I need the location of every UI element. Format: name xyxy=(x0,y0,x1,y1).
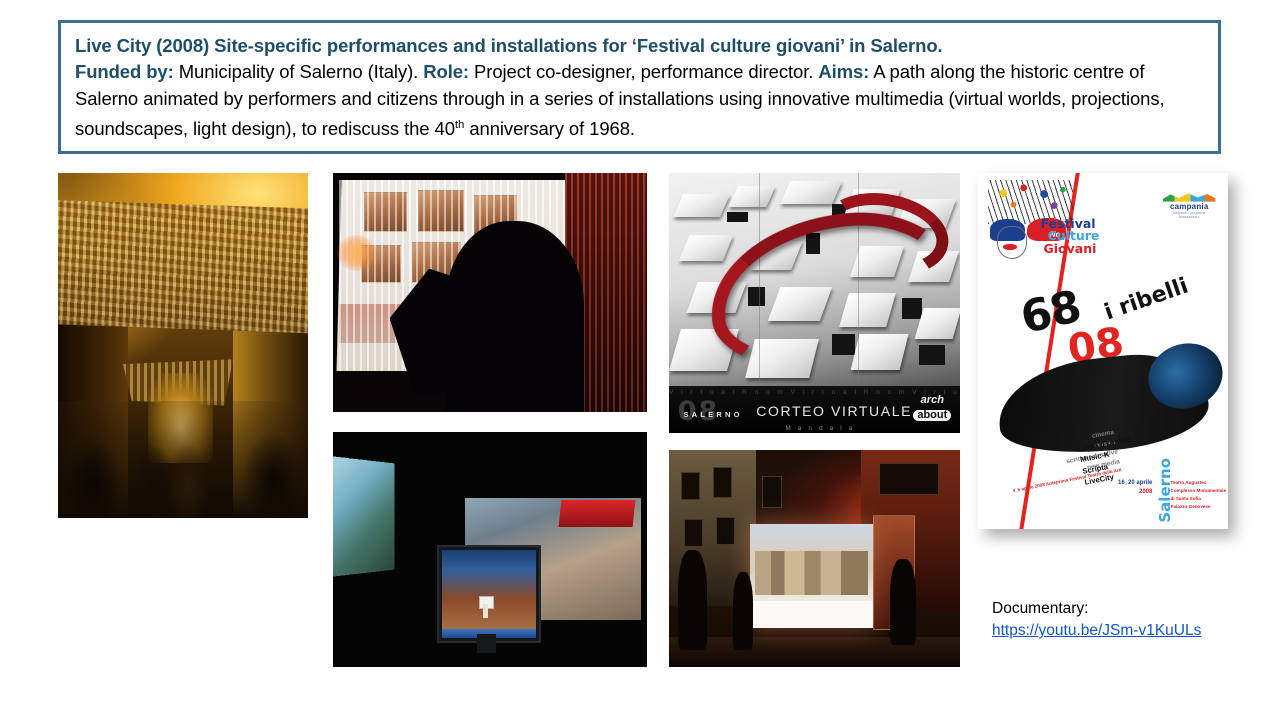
balcony-railing xyxy=(879,463,939,495)
aims-value-end: anniversary of 1968. xyxy=(464,118,635,139)
participant-head xyxy=(509,245,578,326)
role-value: Project co-designer, performance directo… xyxy=(474,61,813,82)
model-block xyxy=(673,194,730,217)
onlooker-silhouette xyxy=(678,550,707,650)
documentary-link[interactable]: https://youtu.be/JSm-v1KuULs xyxy=(992,620,1201,642)
aims-label: Aims: xyxy=(818,61,869,82)
caption-city: SALERNO xyxy=(684,410,743,419)
archabout-logo-line2: about xyxy=(913,410,951,421)
model-block xyxy=(728,186,775,207)
monitor-stand xyxy=(477,634,496,653)
building-window xyxy=(762,476,781,508)
alley-fabric-canopy xyxy=(58,194,308,346)
archabout-logo: arch about xyxy=(913,395,951,422)
campania-wave-icon xyxy=(1163,193,1216,202)
model-void xyxy=(919,345,945,366)
caption-subtitle: M a n d a l a xyxy=(785,425,855,432)
virtual-avatar xyxy=(483,604,488,618)
photo-drawing-projection xyxy=(333,173,647,412)
description-text: Live City (2008) Site-specific performan… xyxy=(75,33,1204,143)
poster-venue-1: Complesso Monumentale xyxy=(1171,487,1227,495)
model-caption-bar: V i r t u a l R o o m V i r t u a l R o … xyxy=(669,386,960,433)
photo-virtual-world-monitors xyxy=(333,432,647,667)
documentary-label: Documentary: xyxy=(992,598,1252,620)
aims-superscript: th xyxy=(455,119,464,131)
projection-red-banner xyxy=(558,500,635,527)
projected-base xyxy=(750,601,872,628)
poster-year: 2008 xyxy=(1118,488,1152,497)
poster-venue-3: Palazzo Genovese xyxy=(1171,503,1227,511)
projected-townscape xyxy=(755,551,867,595)
street-ground xyxy=(669,637,960,667)
poster-festival-line3: Giovani xyxy=(1044,243,1100,256)
building-window xyxy=(713,467,732,497)
festival-poster: No Festival Culture Giovani campania Reg… xyxy=(978,173,1228,529)
role-label: Role: xyxy=(423,61,469,82)
monitor-screen xyxy=(442,550,536,638)
poster-dates: 16_20 aprile 2008 xyxy=(1118,479,1152,497)
poster-date-range: 16_20 aprile xyxy=(1118,479,1152,488)
onlooker-silhouette xyxy=(733,572,753,650)
campania-logo: campania Regione Campania Assessorato xyxy=(1163,193,1216,219)
description-box: Live City (2008) Site-specific performan… xyxy=(58,20,1221,154)
poster-venue-list: Teatro Augusteo Complesso Monumentale di… xyxy=(1171,479,1227,510)
projection-cube-screen xyxy=(750,524,872,628)
documentary-block: Documentary: https://youtu.be/JSm-v1KuUL… xyxy=(992,598,1252,642)
foreground-monitor xyxy=(437,545,541,643)
campania-logo-sub: Regione Campania Assessorato xyxy=(1163,211,1216,219)
poster-festival-title: Festival Culture Giovani xyxy=(1041,218,1100,256)
poster-venue-0: Teatro Augusteo xyxy=(1171,479,1227,487)
photo-virtual-corteo-model: V i r t u a l R o o m V i r t u a l R o … xyxy=(669,173,960,433)
onlooker-silhouette xyxy=(890,559,916,646)
poster-venue-2: di Santa Sofia xyxy=(1171,495,1227,503)
caption-subtitle: Site-specific performances and installat… xyxy=(214,35,942,56)
funded-by-label: Funded by: xyxy=(75,61,174,82)
building-window xyxy=(681,472,700,500)
caption-title: Live City (2008) xyxy=(75,35,209,56)
campania-logo-name: campania xyxy=(1163,202,1216,211)
caption-title: CORTEO VIRTUALE xyxy=(756,403,912,419)
model-void xyxy=(727,212,747,222)
mask-lips xyxy=(1003,244,1017,249)
left-projection xyxy=(333,456,394,577)
building-window xyxy=(716,517,735,545)
poster-tagline: i ribelli xyxy=(1101,273,1191,325)
photo-projection-cube-street xyxy=(669,450,960,667)
model-block xyxy=(780,181,843,204)
model-block xyxy=(678,235,732,261)
alley-visitors xyxy=(58,401,308,518)
warm-lamp-glow xyxy=(336,235,377,271)
archabout-logo-line1: arch xyxy=(913,395,951,406)
building-window xyxy=(684,519,703,547)
photo-alley-canopy xyxy=(58,173,308,518)
funded-by-value: Municipality of Salerno (Italy). xyxy=(179,61,418,82)
mask-face-outline xyxy=(997,226,1028,259)
